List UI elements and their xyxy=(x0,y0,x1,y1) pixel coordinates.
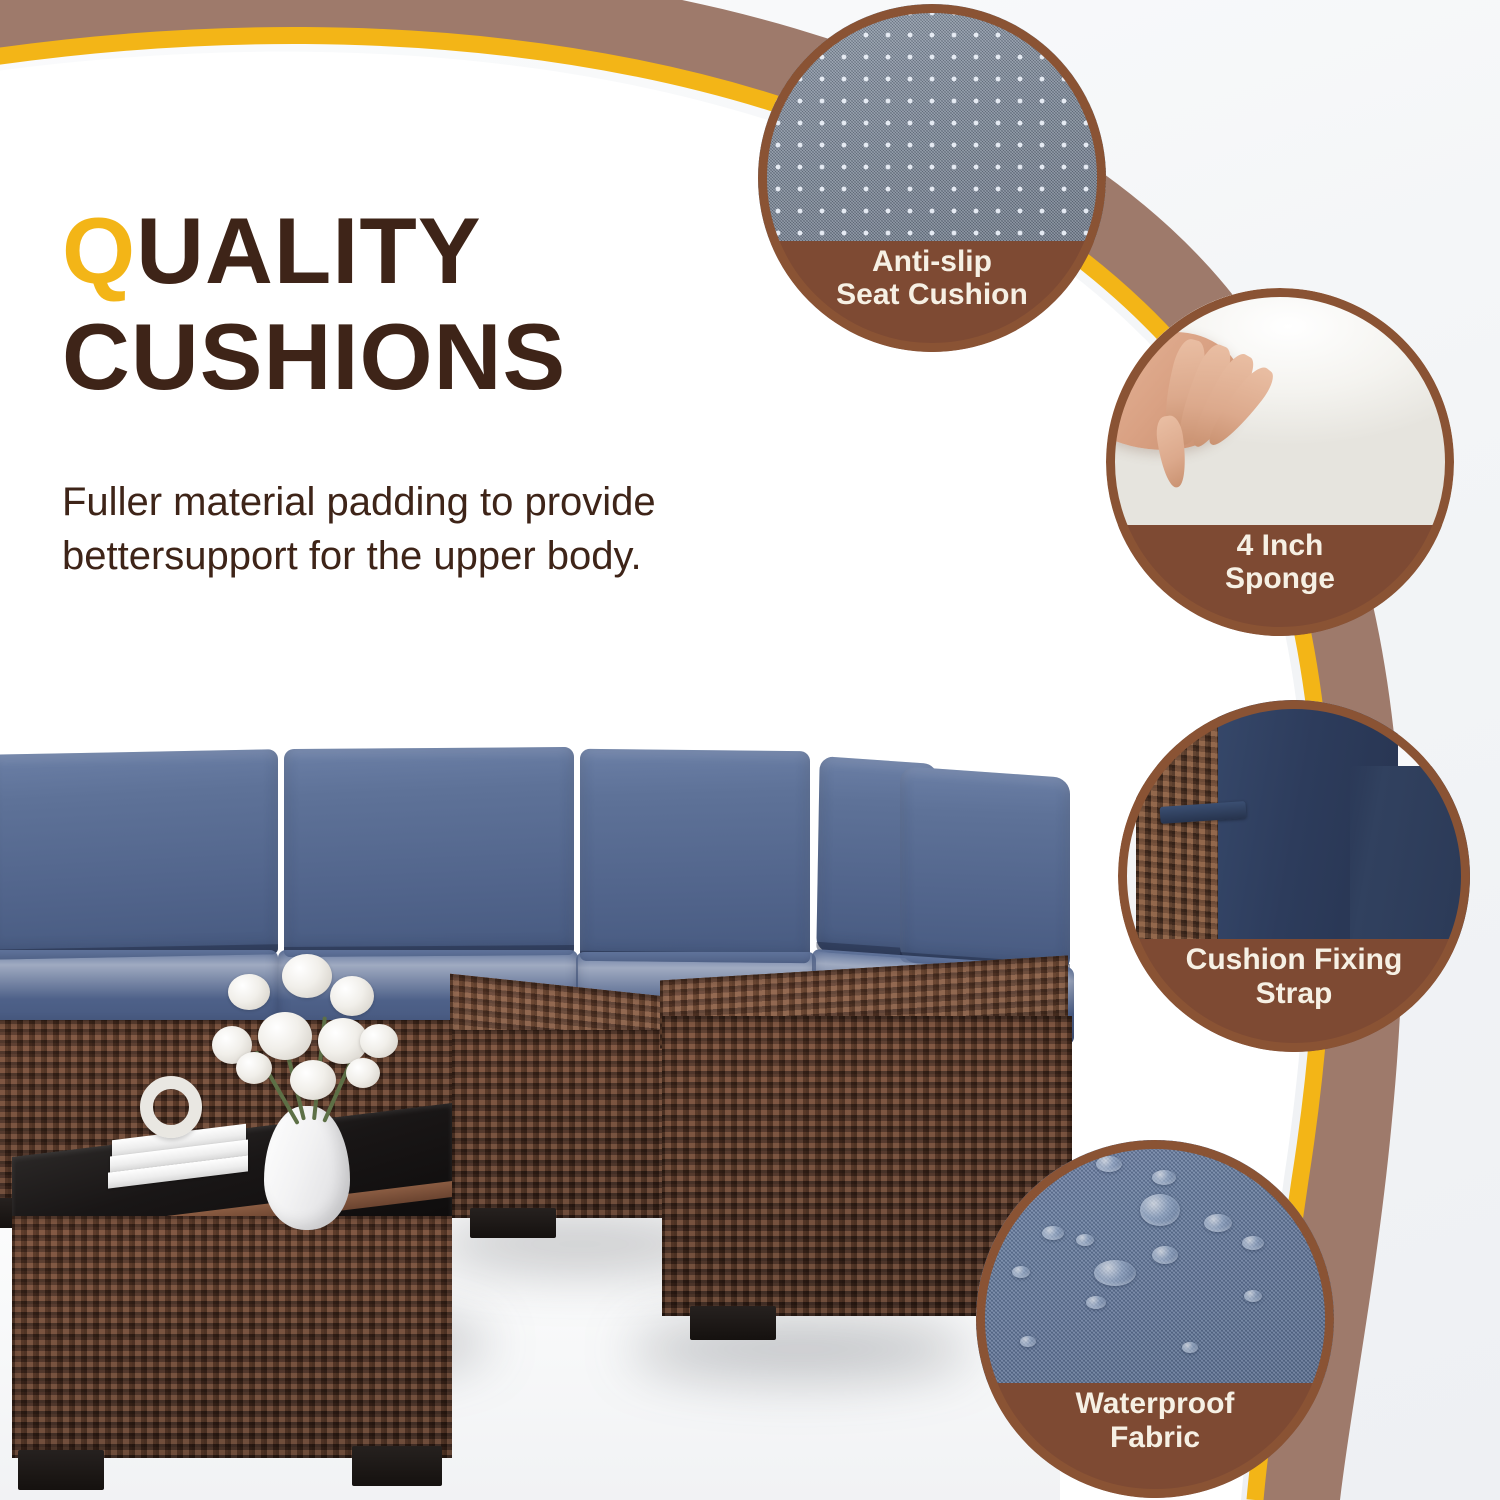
water-droplet xyxy=(1086,1296,1106,1309)
coffee-table-foot-left xyxy=(18,1450,104,1490)
callout-label-band: Cushion Fixing Strap xyxy=(1118,939,1470,1052)
water-droplet xyxy=(1182,1342,1198,1353)
headline-line1-rest: UALITY xyxy=(136,198,481,303)
callout-label-band: 4 Inch Sponge xyxy=(1106,525,1454,636)
flower-bloom xyxy=(290,1060,336,1100)
flower-vase xyxy=(264,1106,350,1230)
water-droplet xyxy=(1042,1226,1064,1240)
shadow-corner xyxy=(630,1320,970,1378)
subtitle-text: Fuller material padding to provide bette… xyxy=(62,475,852,583)
water-droplet xyxy=(1096,1156,1122,1172)
flower-bloom xyxy=(282,954,332,998)
water-droplet xyxy=(1012,1266,1030,1278)
callout-waterproof-fabric[interactable]: Waterproof Fabric xyxy=(976,1140,1334,1498)
callout-anti-slip[interactable]: Anti-slip Seat Cushion xyxy=(758,4,1106,352)
headline-drop-cap: Q xyxy=(62,198,136,303)
flower-bloom xyxy=(236,1052,272,1084)
coffee-table-foot-right xyxy=(352,1446,442,1486)
water-droplet xyxy=(1094,1260,1136,1286)
backrest-cushion-1 xyxy=(0,749,278,960)
fixing-strap-photo xyxy=(1118,700,1470,939)
callout-label-sponge: 4 Inch Sponge xyxy=(1215,529,1345,596)
flower-bloom xyxy=(346,1058,380,1088)
water-droplet xyxy=(1020,1336,1036,1347)
callout-4-inch-sponge[interactable]: 4 Inch Sponge xyxy=(1106,288,1454,636)
ring-ornament xyxy=(140,1076,202,1138)
backrest-cushion-corner-b xyxy=(900,766,1070,974)
backrest-cushion-3 xyxy=(580,749,810,963)
product-feature-infographic: QUALITY CUSHIONS Fuller material padding… xyxy=(0,0,1500,1500)
water-droplet xyxy=(1076,1234,1094,1246)
sponge-photo xyxy=(1106,288,1454,525)
flower-bloom xyxy=(330,976,374,1016)
callout-label-waterproof: Waterproof Fabric xyxy=(1066,1387,1245,1454)
corner-unit-foot-left xyxy=(690,1306,776,1340)
flower-bloom xyxy=(228,974,270,1010)
product-photo-sectional-sofa xyxy=(0,620,1060,1500)
anti-slip-photo xyxy=(758,4,1106,241)
coffee-table-body xyxy=(12,1216,452,1458)
dotted-fabric-texture-icon xyxy=(758,4,1106,241)
water-droplet xyxy=(1140,1194,1180,1226)
water-droplet xyxy=(1204,1214,1232,1232)
callout-label-fixing-strap: Cushion Fixing Strap xyxy=(1176,943,1413,1010)
callout-label-anti-slip: Anti-slip Seat Cushion xyxy=(826,245,1038,312)
water-droplet xyxy=(1242,1236,1264,1250)
callout-cushion-fixing-strap[interactable]: Cushion Fixing Strap xyxy=(1118,700,1470,1052)
water-droplet xyxy=(1152,1246,1178,1264)
cushion-seat-closeup xyxy=(1350,766,1470,939)
flower-bloom xyxy=(360,1024,398,1058)
water-droplet xyxy=(1244,1290,1262,1302)
water-droplet xyxy=(1152,1170,1176,1185)
waterproof-photo xyxy=(976,1140,1334,1383)
flower-bloom xyxy=(258,1012,312,1060)
backrest-cushion-2 xyxy=(284,747,574,957)
callout-label-band: Waterproof Fabric xyxy=(976,1383,1334,1498)
callout-label-band: Anti-slip Seat Cushion xyxy=(758,241,1106,352)
ottoman-foot xyxy=(470,1208,556,1238)
